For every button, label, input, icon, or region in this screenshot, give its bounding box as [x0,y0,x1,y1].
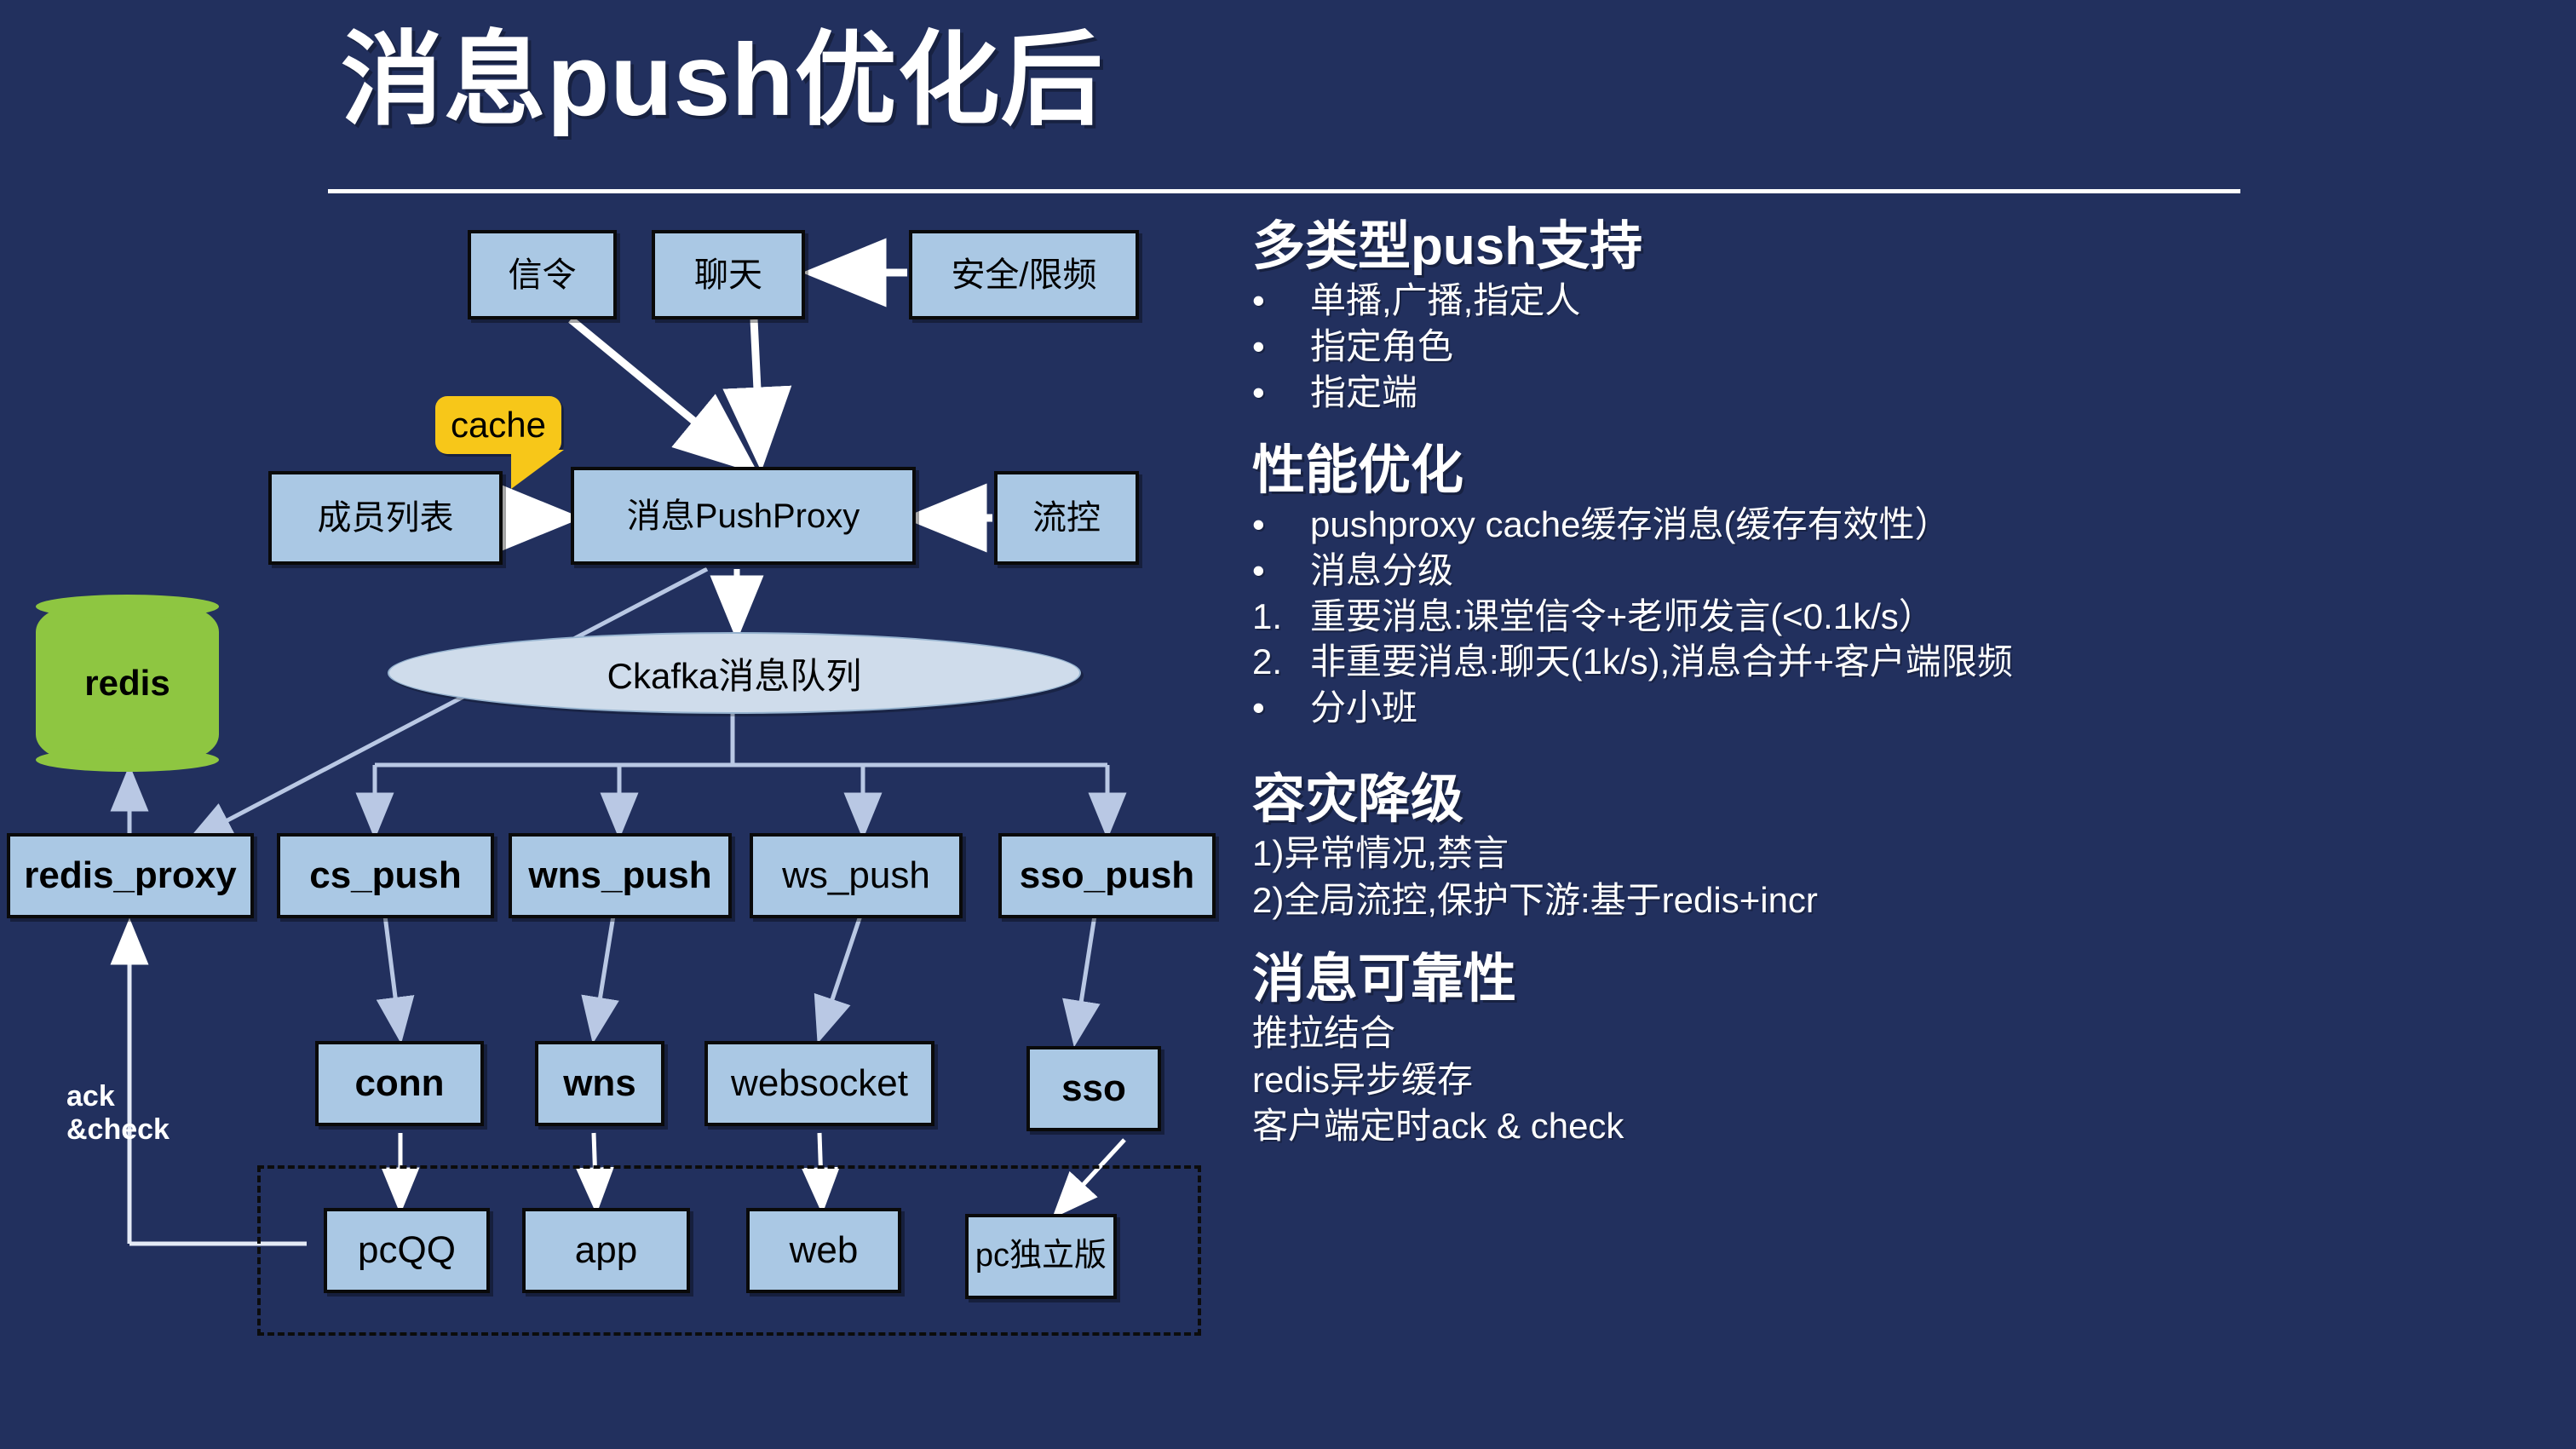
node-label: 流控 [1032,500,1101,536]
bullet-marker: • [1252,548,1302,594]
bullet-marker: • [1252,502,1302,548]
node-websocket[interactable]: websocket [704,1041,934,1126]
node-label: conn [354,1064,444,1103]
node-liaotian[interactable]: 聊天 [652,230,805,319]
node-label: websocket [731,1064,908,1103]
node-label: wns_push [528,856,711,895]
bullet-marker: • [1252,370,1302,416]
section-heading-disaster-recovery: 容灾降级 [1252,770,2547,829]
bullet-marker: • [1252,685,1302,731]
node-web[interactable]: web [746,1208,901,1293]
list-item-text: 重要消息:课堂信令+老师发言(<0.1k/s） [1310,596,1935,636]
node-anquan-xianpin[interactable]: 安全/限频 [909,230,1139,319]
list-item: 客户端定时ack & check [1252,1103,2547,1150]
node-label: 信令 [509,257,577,293]
node-label: 安全/限频 [951,257,1096,293]
list-item: • 分小班 [1252,685,2547,731]
list-item: • 消息分级 [1252,548,2547,594]
node-label: sso_push [1020,856,1194,895]
node-label: pcQQ [358,1231,456,1270]
line-list-disaster-recovery: 1)异常情况,禁言 2)全局流控,保护下游:基于redis+incr [1252,831,2547,923]
line-list-reliability: 推拉结合 redis异步缓存 客户端定时ack & check [1252,1010,2547,1150]
node-label: pc独立版 [975,1239,1107,1274]
node-pcqq[interactable]: pcQQ [324,1208,490,1293]
node-conn[interactable]: conn [315,1041,484,1126]
slide-canvas: 消息push优化后 [0,0,2576,1449]
node-chengyuan-liebiao[interactable]: 成员列表 [268,471,503,565]
list-item: 1. 重要消息:课堂信令+老师发言(<0.1k/s） [1252,594,2547,640]
bullet-list-push-types: • 单播,广播,指定人 • 指定角色 • 指定端 [1252,278,2547,415]
cache-label: cache [451,405,546,446]
list-item-text: pushproxy cache缓存消息(缓存有效性） [1310,504,1951,544]
node-label: app [575,1231,637,1270]
node-label: ws_push [782,856,930,895]
list-item: 2. 非重要消息:聊天(1k/s),消息合并+客户端限频 [1252,639,2547,685]
title-underline-rule [328,189,2240,193]
node-sso-push[interactable]: sso_push [998,833,1216,918]
cache-callout-tail [511,450,564,489]
node-label: redis_proxy [24,856,236,895]
node-label: 消息PushProxy [627,498,860,534]
node-ckafka-queue[interactable]: Ckafka消息队列 [388,632,1081,714]
node-label: Ckafka消息队列 [607,647,862,699]
list-item-text: 单播,广播,指定人 [1310,280,1580,320]
node-label: redis [84,663,170,704]
page-title: 消息push优化后 [341,26,1104,136]
list-item: 推拉结合 [1252,1010,2547,1057]
bullet-marker: 1. [1252,594,1302,640]
node-pushproxy[interactable]: 消息PushProxy [571,467,916,565]
node-label: 成员列表 [318,500,454,536]
ack-check-label: ack &check [66,1080,170,1147]
section-gap [1252,924,2547,950]
list-item: • pushproxy cache缓存消息(缓存有效性） [1252,502,2547,548]
node-app[interactable]: app [522,1208,690,1293]
node-sso[interactable]: sso [1026,1046,1161,1131]
section-heading-performance: 性能优化 [1252,441,2547,500]
list-item: • 指定端 [1252,370,2547,416]
section-gap [1252,416,2547,441]
list-item: redis异步缓存 [1252,1057,2547,1104]
node-label: sso [1061,1069,1126,1108]
list-item: • 单播,广播,指定人 [1252,278,2547,324]
node-redis-proxy[interactable]: redis_proxy [7,833,254,918]
list-item: 2)全局流控,保护下游:基于redis+incr [1252,877,2547,924]
list-item: • 指定角色 [1252,324,2547,370]
node-cs-push[interactable]: cs_push [277,833,494,918]
section-heading-reliability: 消息可靠性 [1252,950,2547,1009]
node-label: wns [563,1064,636,1103]
node-redis-datastore[interactable]: redis [36,607,219,760]
summary-panel: 多类型push支持 • 单播,广播,指定人 • 指定角色 • 指定端 性能优化 … [1252,217,2547,1150]
node-label: web [790,1231,859,1270]
node-label: cs_push [309,856,462,895]
bullet-marker: 2. [1252,639,1302,685]
node-wns-push[interactable]: wns_push [509,833,732,918]
bullet-marker: • [1252,278,1302,324]
list-item-text: 消息分级 [1310,550,1453,590]
node-xinling[interactable]: 信令 [468,230,617,319]
node-pc-standalone[interactable]: pc独立版 [965,1214,1117,1299]
list-item-text: 分小班 [1310,687,1417,727]
bullet-list-performance: • pushproxy cache缓存消息(缓存有效性） • 消息分级 1. 重… [1252,502,2547,731]
list-item-text: 非重要消息:聊天(1k/s),消息合并+客户端限频 [1310,641,2013,681]
node-label: 聊天 [694,257,762,293]
node-wns[interactable]: wns [535,1041,664,1126]
list-item: 1)异常情况,禁言 [1252,831,2547,877]
bullet-marker: • [1252,324,1302,370]
cache-callout[interactable]: cache [435,396,561,454]
section-gap [1252,731,2547,770]
section-heading-push-types: 多类型push支持 [1252,217,2547,276]
node-ws-push[interactable]: ws_push [750,833,963,918]
list-item-text: 指定端 [1310,372,1417,412]
node-liukong[interactable]: 流控 [994,471,1139,565]
list-item-text: 指定角色 [1310,326,1453,366]
